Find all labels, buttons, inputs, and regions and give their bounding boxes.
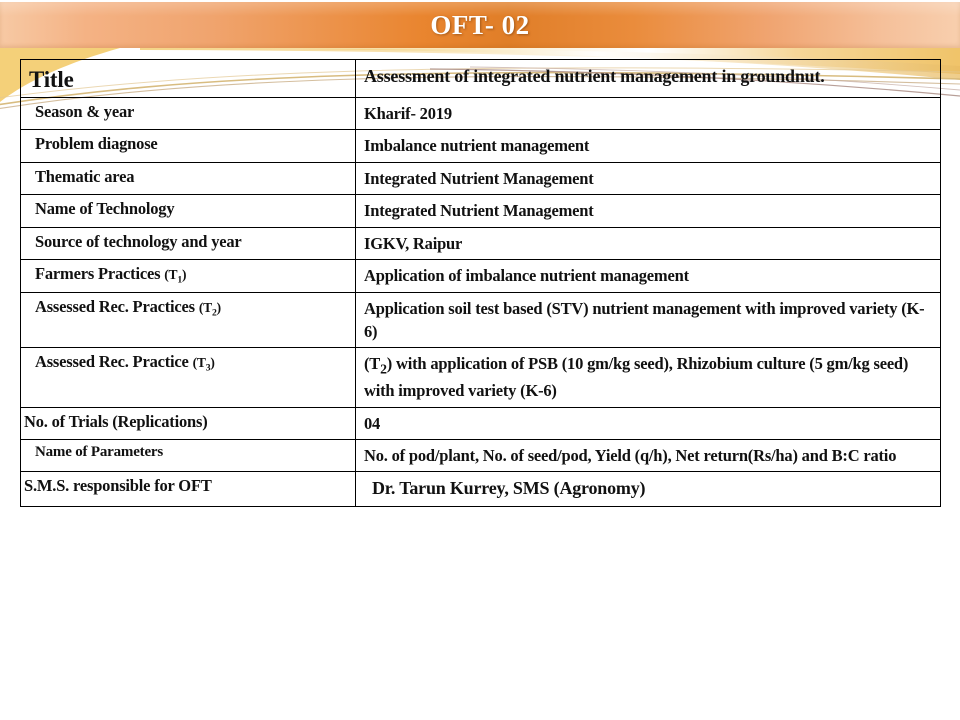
row-label-farmers-practices-t1: Farmers Practices (T1) [21, 260, 356, 292]
row-label-source-of-technology: Source of technology and year [21, 227, 356, 259]
row-value-source-of-technology: IGKV, Raipur [356, 227, 941, 259]
row-label-season-year: Season & year [21, 98, 356, 130]
table-row: Name of Technology Integrated Nutrient M… [21, 195, 941, 227]
table-row: Assessed Rec. Practice (T3) (T2) with ap… [21, 348, 941, 407]
page-title: OFT- 02 [0, 2, 960, 48]
table-row: Problem diagnose Imbalance nutrient mana… [21, 130, 941, 162]
table-row: Farmers Practices (T1) Application of im… [21, 260, 941, 292]
row-value-name-of-technology: Integrated Nutrient Management [356, 195, 941, 227]
row-value-name-of-parameters: No. of pod/plant, No. of seed/pod, Yield… [356, 440, 941, 472]
row-value-assessed-rec-practices-t2: Application soil test based (STV) nutrie… [356, 292, 941, 348]
table-row: Title Assessment of integrated nutrient … [21, 60, 941, 98]
row-label-title: Title [21, 60, 356, 98]
row-label-assessed-rec-practice-t3: Assessed Rec. Practice (T3) [21, 348, 356, 407]
row-label-name-of-parameters: Name of Parameters [21, 440, 356, 472]
label-text: Assessed Rec. Practices [35, 297, 199, 316]
table-row: Assessed Rec. Practices (T2) Application… [21, 292, 941, 348]
row-value-problem-diagnose: Imbalance nutrient management [356, 130, 941, 162]
row-label-problem-diagnose: Problem diagnose [21, 130, 356, 162]
row-value-thematic-area: Integrated Nutrient Management [356, 162, 941, 194]
row-value-title: Assessment of integrated nutrient manage… [356, 60, 941, 98]
label-text: Farmers Practices [35, 264, 164, 283]
label-text: Assessed Rec. Practice [35, 352, 193, 371]
table-row: Source of technology and year IGKV, Raip… [21, 227, 941, 259]
row-label-no-of-trials: No. of Trials (Replications) [21, 407, 356, 439]
treatment-tag: (T1) [164, 267, 186, 282]
row-value-farmers-practices-t1: Application of imbalance nutrient manage… [356, 260, 941, 292]
row-label-assessed-rec-practices-t2: Assessed Rec. Practices (T2) [21, 292, 356, 348]
table-row: S.M.S. responsible for OFT Dr. Tarun Kur… [21, 472, 941, 507]
row-value-no-of-trials: 04 [356, 407, 941, 439]
row-label-name-of-technology: Name of Technology [21, 195, 356, 227]
treatment-tag: (T2) [199, 300, 221, 315]
row-value-assessed-rec-practice-t3: (T2) with application of PSB (10 gm/kg s… [356, 348, 941, 407]
row-value-sms-responsible: Dr. Tarun Kurrey, SMS (Agronomy) [356, 472, 941, 507]
row-value-season-year: Kharif- 2019 [356, 98, 941, 130]
header-banner: OFT- 02 [0, 0, 960, 52]
table-row: No. of Trials (Replications) 04 [21, 407, 941, 439]
table-row: Name of Parameters No. of pod/plant, No.… [21, 440, 941, 472]
treatment-tag: (T3) [193, 355, 215, 370]
table-row: Season & year Kharif- 2019 [21, 98, 941, 130]
row-label-thematic-area: Thematic area [21, 162, 356, 194]
table-row: Thematic area Integrated Nutrient Manage… [21, 162, 941, 194]
oft-details-table: Title Assessment of integrated nutrient … [20, 59, 941, 507]
row-label-sms-responsible: S.M.S. responsible for OFT [21, 472, 356, 507]
